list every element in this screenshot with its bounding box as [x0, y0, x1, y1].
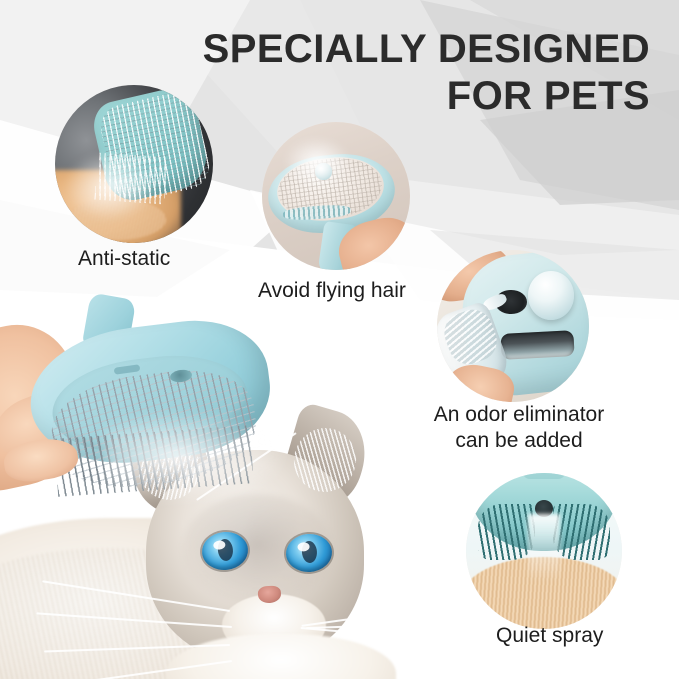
feature-caption-avoid-flying-hair: Avoid flying hair — [258, 278, 406, 304]
hero-hand-holding-brush — [0, 292, 316, 542]
feature-caption-quiet-spray: Quiet spray — [496, 623, 603, 649]
hero-mist — [106, 412, 286, 502]
feature-image-avoid-flying-hair — [262, 122, 410, 270]
inset4-comb-ribs-left — [478, 504, 534, 560]
inset1-mist — [64, 151, 156, 221]
title-line-2: FOR PETS — [200, 73, 650, 120]
page-title: SPECIALLY DESIGNED FOR PETS — [200, 26, 650, 120]
inset2-mist — [283, 137, 351, 187]
feature-image-quiet-spray — [466, 473, 622, 629]
product-infographic-poster: SPECIALLY DESIGNED FOR PETS — [0, 0, 679, 679]
inset4-comb-ribs-right — [553, 504, 609, 560]
feature-caption-anti-static: Anti-static — [78, 246, 170, 272]
title-line-1: SPECIALLY DESIGNED — [200, 26, 650, 73]
inset4-top-cap — [522, 473, 566, 479]
inset3-control-knob — [528, 271, 574, 320]
feature-image-odor-eliminator — [437, 250, 589, 402]
inset4-spray-mist — [528, 514, 559, 583]
feature-image-anti-static — [55, 85, 213, 243]
inset3-water-window — [500, 330, 574, 360]
feature-caption-odor-eliminator: An odor eliminator can be added — [424, 402, 614, 454]
